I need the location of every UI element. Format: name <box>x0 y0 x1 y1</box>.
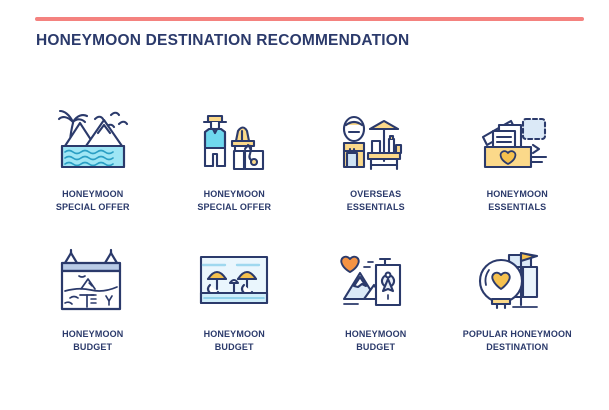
page-title: HONEYMOON DESTINATION RECOMMENDATION <box>36 32 409 50</box>
beach-umbrellas-icon <box>184 238 284 320</box>
grid-item-island-beach[interactable]: HONEYMOON SPECIAL OFFER <box>22 92 164 232</box>
globe-heart-flag-icon <box>467 238 567 320</box>
market-stall-icon <box>326 98 426 180</box>
mountain-location-pin-icon <box>326 238 426 320</box>
grid-item-honeymoon-budget-beach[interactable]: HONEYMOON BUDGET <box>164 232 306 372</box>
grid-item-label: HONEYMOON BUDGET <box>62 328 123 354</box>
grid-item-honeymoon-essentials[interactable]: HONEYMOON ESSENTIALS <box>447 92 589 232</box>
grid-item-label: POPULAR HONEYMOON DESTINATION <box>463 328 572 354</box>
grid-item-traveler-luggage[interactable]: HONEYMOON SPECIAL OFFER <box>164 92 306 232</box>
grid-item-popular-destination[interactable]: POPULAR HONEYMOON DESTINATION <box>447 232 589 372</box>
mailbox-heart-icon <box>467 98 567 180</box>
grid-item-label: HONEYMOON SPECIAL OFFER <box>197 188 271 214</box>
grid-item-label: HONEYMOON BUDGET <box>204 328 265 354</box>
traveler-luggage-icon <box>184 98 284 180</box>
grid-item-label: HONEYMOON SPECIAL OFFER <box>56 188 130 214</box>
grid-item-overseas-essentials[interactable]: OVERSEAS ESSENTIALS <box>305 92 447 232</box>
grid-item-honeymoon-budget-map[interactable]: HONEYMOON BUDGET <box>22 232 164 372</box>
grid-item-label: HONEYMOON BUDGET <box>345 328 406 354</box>
icon-grid: HONEYMOON SPECIAL OFFER <box>22 92 588 372</box>
poster-canvas: HONEYMOON DESTINATION RECOMMENDATION <box>0 0 609 410</box>
map-board-icon <box>43 238 143 320</box>
island-beach-icon <box>43 98 143 180</box>
grid-item-label: OVERSEAS ESSENTIALS <box>347 188 405 214</box>
grid-item-label: HONEYMOON ESSENTIALS <box>487 188 548 214</box>
grid-item-honeymoon-budget-mountain[interactable]: HONEYMOON BUDGET <box>305 232 447 372</box>
header-accent-bar <box>35 17 584 21</box>
